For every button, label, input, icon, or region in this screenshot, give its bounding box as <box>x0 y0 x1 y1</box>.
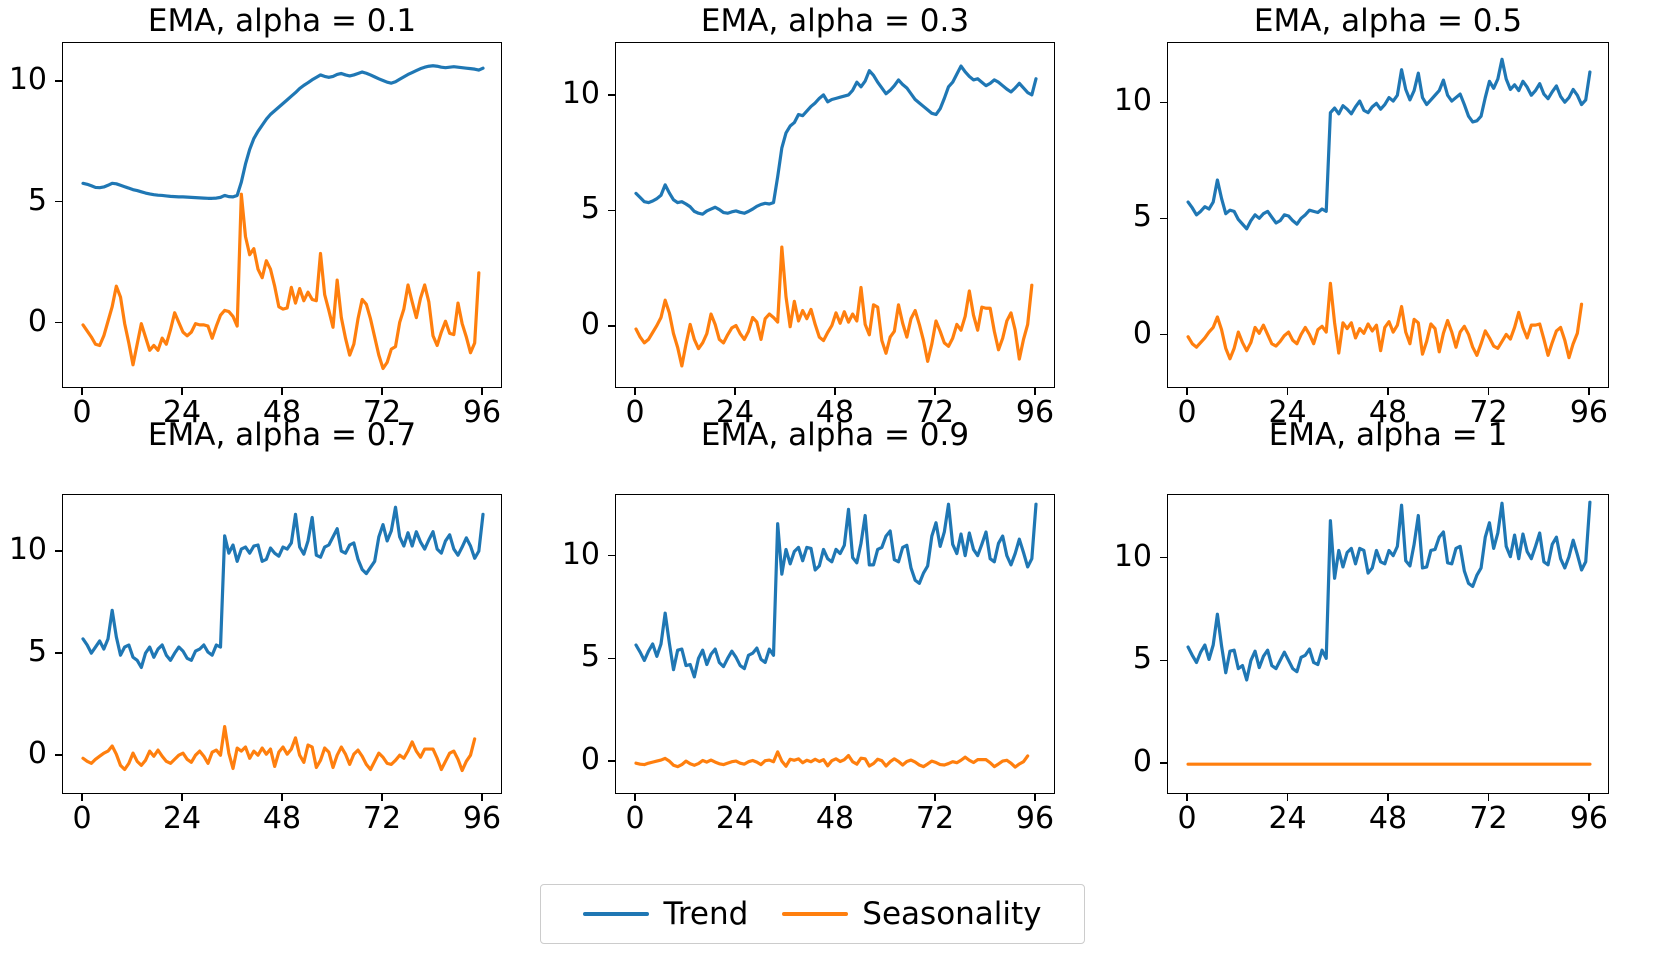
xtick-mark <box>634 794 636 801</box>
axes-frame-2 <box>615 42 1055 388</box>
ytick-label: 10 <box>0 535 47 565</box>
subplot-panel-4: EMA, alpha = 0.70510024487296 <box>0 0 1661 958</box>
panel-title-6: EMA, alpha = 1 <box>1047 418 1661 452</box>
ytick-mark <box>1160 557 1167 559</box>
legend-label-seasonality: Seasonality <box>862 897 1041 931</box>
series-line-trend <box>636 66 1036 214</box>
ytick-label: 5 <box>480 642 600 672</box>
xtick-mark <box>1588 388 1590 395</box>
xtick-mark <box>834 388 836 395</box>
xtick-label: 96 <box>975 398 1095 428</box>
xtick-mark <box>181 794 183 801</box>
xtick-label: 0 <box>1127 398 1247 428</box>
ytick-label: 0 <box>0 739 47 769</box>
plot-lines-4 <box>63 495 503 795</box>
ytick-mark <box>1160 218 1167 220</box>
xtick-mark <box>381 388 383 395</box>
xtick-mark <box>181 388 183 395</box>
xtick-mark <box>1186 388 1188 395</box>
axes-frame-5 <box>615 494 1055 794</box>
subplot-panel-6: EMA, alpha = 10510024487296 <box>0 0 1661 958</box>
ytick-label: 5 <box>0 186 47 216</box>
xtick-label: 24 <box>122 398 242 428</box>
xtick-label: 24 <box>122 804 242 834</box>
ytick-mark <box>55 322 62 324</box>
ytick-mark <box>608 760 615 762</box>
xtick-mark <box>634 388 636 395</box>
xtick-mark <box>934 388 936 395</box>
xtick-mark <box>834 794 836 801</box>
xtick-label: 96 <box>422 804 542 834</box>
xtick-label: 96 <box>975 804 1095 834</box>
xtick-mark <box>1034 388 1036 395</box>
ytick-mark <box>55 201 62 203</box>
xtick-mark <box>1034 794 1036 801</box>
plot-lines-5 <box>616 495 1056 795</box>
subplot-panel-3: EMA, alpha = 0.50510024487296 <box>0 0 1661 958</box>
xtick-label: 24 <box>1228 804 1348 834</box>
legend-entry-seasonality: Seasonality <box>782 897 1041 931</box>
panel-title-3: EMA, alpha = 0.5 <box>1047 4 1661 38</box>
panel-title-4: EMA, alpha = 0.7 <box>0 418 622 452</box>
subplot-panel-2: EMA, alpha = 0.30510024487296 <box>0 0 1661 958</box>
plot-lines-2 <box>616 43 1056 389</box>
panel-title-5: EMA, alpha = 0.9 <box>495 418 1175 452</box>
series-line-trend <box>83 507 483 667</box>
xtick-mark <box>1488 794 1490 801</box>
xtick-mark <box>1387 388 1389 395</box>
ytick-label: 10 <box>0 65 47 95</box>
plot-lines-1 <box>63 43 503 389</box>
ytick-label: 5 <box>1032 202 1152 232</box>
xtick-mark <box>734 388 736 395</box>
xtick-mark <box>1488 388 1490 395</box>
xtick-label: 0 <box>1127 804 1247 834</box>
series-line-seasonality <box>83 194 479 368</box>
series-line-trend <box>636 504 1036 677</box>
legend-swatch-trend-icon <box>583 912 649 916</box>
ytick-mark <box>1160 102 1167 104</box>
ytick-mark <box>55 550 62 552</box>
ytick-mark <box>608 658 615 660</box>
axes-frame-6 <box>1167 494 1609 794</box>
ytick-label: 10 <box>1032 542 1152 572</box>
xtick-mark <box>481 794 483 801</box>
ytick-mark <box>1160 660 1167 662</box>
xtick-label: 0 <box>22 398 142 428</box>
xtick-mark <box>1287 794 1289 801</box>
xtick-label: 72 <box>875 804 995 834</box>
xtick-mark <box>381 794 383 801</box>
xtick-label: 24 <box>675 804 795 834</box>
ytick-label: 0 <box>1032 747 1152 777</box>
legend-swatch-seasonality-icon <box>782 912 848 916</box>
xtick-label: 48 <box>1328 804 1448 834</box>
legend-entry-trend: Trend <box>583 897 748 931</box>
plot-lines-3 <box>1168 43 1610 389</box>
ytick-mark <box>608 210 615 212</box>
xtick-mark <box>1287 388 1289 395</box>
xtick-label: 48 <box>222 804 342 834</box>
ytick-mark <box>608 555 615 557</box>
xtick-label: 48 <box>775 398 895 428</box>
ytick-mark <box>1160 334 1167 336</box>
panel-title-1: EMA, alpha = 0.1 <box>0 4 622 38</box>
axes-frame-3 <box>1167 42 1609 388</box>
xtick-label: 24 <box>1228 398 1348 428</box>
series-line-seasonality <box>636 247 1032 366</box>
series-line-trend <box>83 66 483 199</box>
legend-label-trend: Trend <box>663 897 748 931</box>
xtick-label: 0 <box>575 804 695 834</box>
panel-title-2: EMA, alpha = 0.3 <box>495 4 1175 38</box>
xtick-mark <box>81 388 83 395</box>
series-line-seasonality <box>83 727 475 771</box>
xtick-label: 72 <box>322 398 442 428</box>
xtick-label: 24 <box>675 398 795 428</box>
xtick-mark <box>81 794 83 801</box>
ytick-mark <box>608 94 615 96</box>
subplot-panel-5: EMA, alpha = 0.90510024487296 <box>0 0 1661 958</box>
xtick-label: 0 <box>22 804 142 834</box>
xtick-label: 72 <box>1428 804 1548 834</box>
ytick-mark <box>1160 762 1167 764</box>
xtick-mark <box>481 388 483 395</box>
series-line-trend <box>1188 502 1590 680</box>
series-line-seasonality <box>1188 283 1581 358</box>
ytick-label: 10 <box>1032 86 1152 116</box>
ytick-mark <box>608 325 615 327</box>
ytick-label: 0 <box>480 310 600 340</box>
ytick-label: 5 <box>480 194 600 224</box>
ytick-label: 0 <box>0 307 47 337</box>
xtick-label: 72 <box>322 804 442 834</box>
xtick-label: 48 <box>775 804 895 834</box>
ytick-mark <box>55 652 62 654</box>
xtick-label: 72 <box>1428 398 1548 428</box>
xtick-mark <box>281 388 283 395</box>
xtick-label: 96 <box>1529 398 1649 428</box>
axes-frame-4 <box>62 494 502 794</box>
ytick-label: 5 <box>1032 644 1152 674</box>
ytick-label: 5 <box>0 637 47 667</box>
xtick-mark <box>1588 794 1590 801</box>
xtick-label: 48 <box>222 398 342 428</box>
xtick-mark <box>934 794 936 801</box>
figure-legend: TrendSeasonality <box>540 884 1085 944</box>
xtick-label: 96 <box>422 398 542 428</box>
ytick-label: 0 <box>1032 319 1152 349</box>
ytick-label: 0 <box>480 745 600 775</box>
xtick-mark <box>281 794 283 801</box>
ytick-label: 10 <box>480 79 600 109</box>
ytick-mark <box>55 80 62 82</box>
plot-lines-6 <box>1168 495 1610 795</box>
series-line-seasonality <box>636 752 1028 767</box>
xtick-label: 48 <box>1328 398 1448 428</box>
xtick-label: 72 <box>875 398 995 428</box>
axes-frame-1 <box>62 42 502 388</box>
ytick-mark <box>55 754 62 756</box>
xtick-label: 0 <box>575 398 695 428</box>
xtick-mark <box>734 794 736 801</box>
series-line-trend <box>1188 59 1590 229</box>
xtick-mark <box>1186 794 1188 801</box>
subplot-panel-1: EMA, alpha = 0.10510024487296 <box>0 0 1661 958</box>
xtick-label: 96 <box>1529 804 1649 834</box>
figure-canvas: EMA, alpha = 0.10510024487296EMA, alpha … <box>0 0 1661 958</box>
xtick-mark <box>1387 794 1389 801</box>
ytick-label: 10 <box>480 540 600 570</box>
